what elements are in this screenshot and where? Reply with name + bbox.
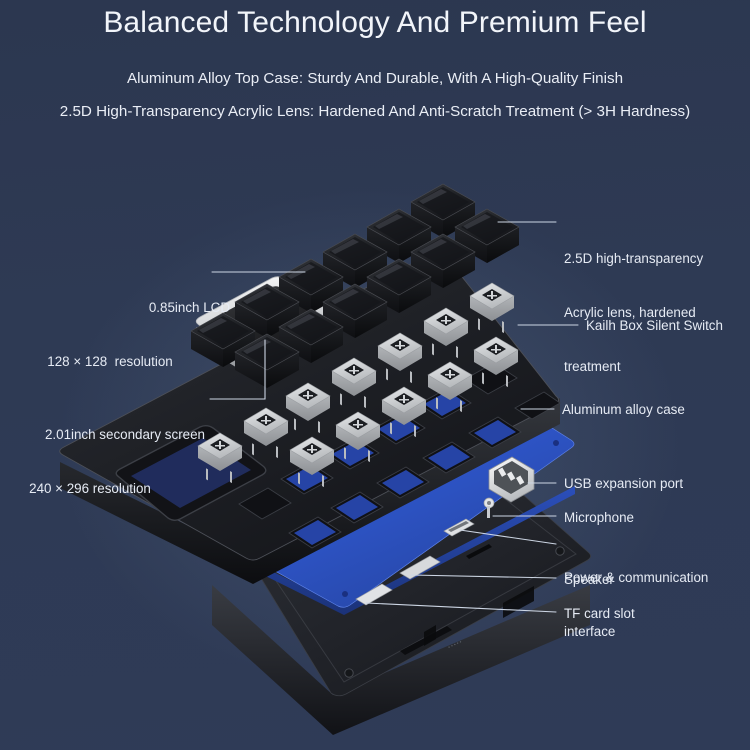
callout-acrylic-lens-line-3: treatment	[564, 358, 703, 376]
callout-secondary-screen: 2.01inch secondary screen 240 × 296 reso…	[0, 390, 205, 534]
pcb-mount-hole	[342, 591, 348, 597]
callout-lcd-line-2: 128 × 128 resolution	[0, 353, 230, 371]
screw-boss	[556, 547, 564, 555]
callout-switch: Kailh Box Silent Switch	[586, 317, 723, 335]
callout-secondary-screen-line-1: 2.01inch secondary screen	[0, 426, 205, 444]
callout-case: Aluminum alloy case	[562, 401, 685, 419]
callout-acrylic-lens: 2.5D high-transparency Acrylic lens, har…	[564, 214, 703, 412]
callout-microphone: Microphone	[564, 509, 634, 527]
pcb-mount-hole	[553, 440, 559, 446]
callout-lcd-line-1: 0.85inch LCD	[0, 299, 230, 317]
callout-speaker: Speaker	[564, 571, 614, 589]
callout-power-interface-line-2: interface	[564, 623, 708, 641]
callout-secondary-screen-line-2: 240 × 296 resolution	[0, 480, 205, 498]
screw-boss	[345, 669, 353, 677]
callout-tf-card: TF card slot	[564, 605, 635, 623]
callout-usb: USB expansion port	[564, 475, 683, 493]
callout-acrylic-lens-line-1: 2.5D high-transparency	[564, 250, 703, 268]
product-infographic: Balanced Technology And Premium Feel Alu…	[0, 0, 750, 750]
callout-lcd: 0.85inch LCD 128 × 128 resolution	[0, 263, 230, 407]
